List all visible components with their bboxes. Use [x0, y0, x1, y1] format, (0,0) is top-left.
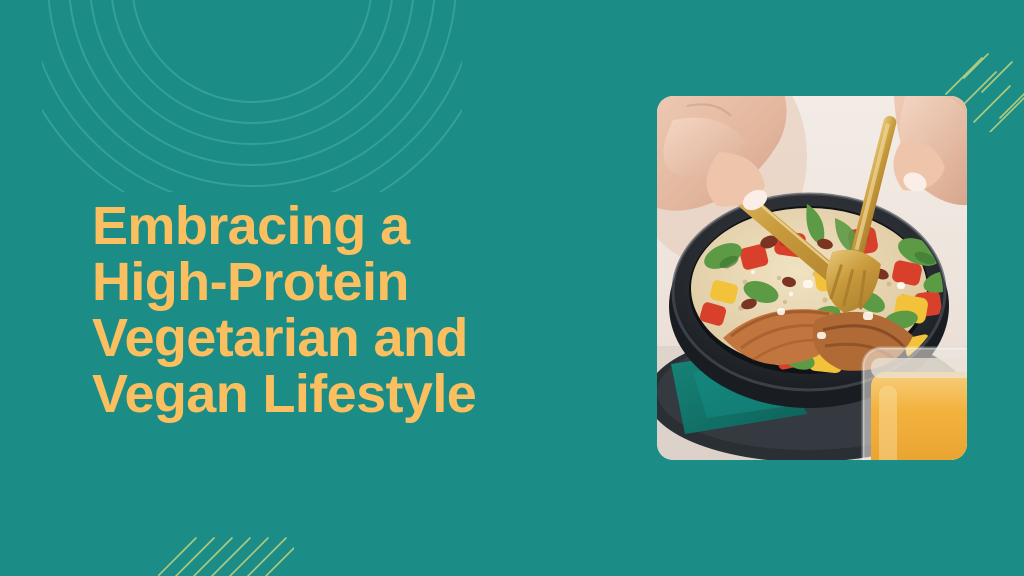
article-banner: Embracing a High-Protein Vegetarian and …: [0, 0, 1024, 576]
banner-headline: Embracing a High-Protein Vegetarian and …: [92, 198, 632, 422]
concentric-arcs-decoration: [42, 0, 462, 192]
diagonal-hatch-bottom-left-decoration: [158, 518, 294, 576]
food-photo-illustration: [657, 96, 967, 460]
food-photo-card: [657, 96, 967, 460]
